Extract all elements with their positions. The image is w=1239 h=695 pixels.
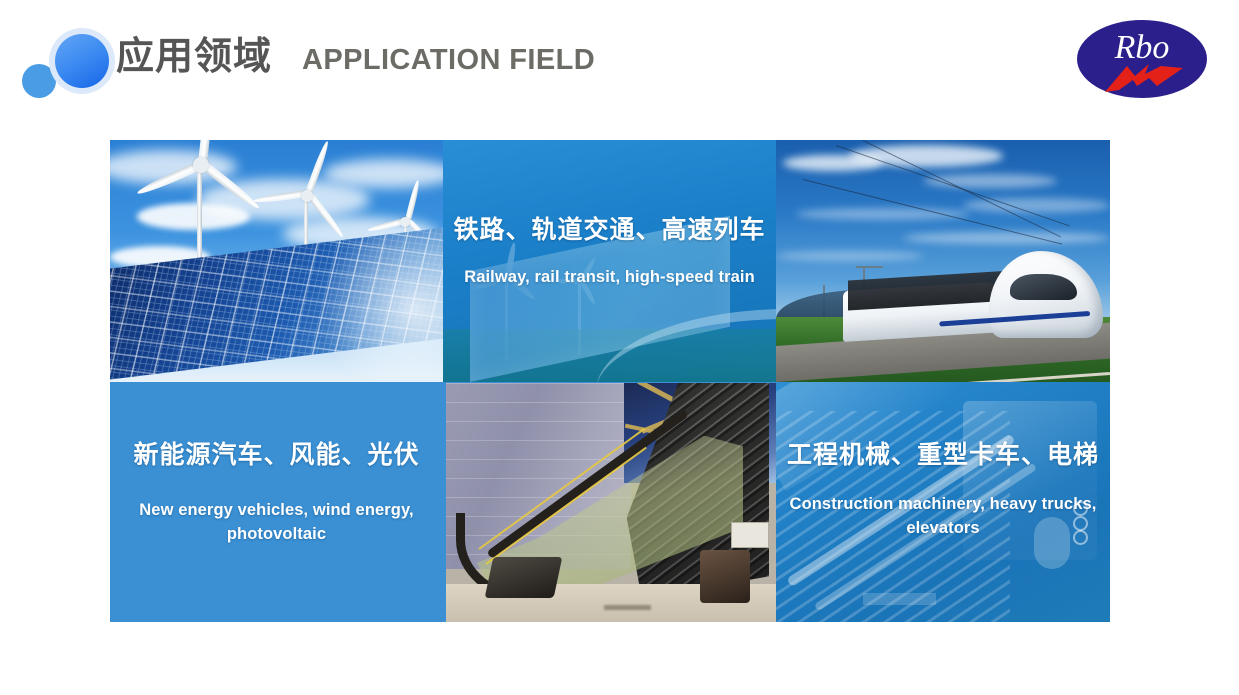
escalator-newel bbox=[700, 550, 750, 603]
page-title-cn: 应用领域 bbox=[116, 33, 272, 79]
escalator-newel bbox=[485, 557, 563, 598]
lightning-bolt-icon bbox=[1105, 64, 1183, 92]
header-decor-dots bbox=[14, 22, 114, 98]
cell-new-energy[interactable]: 新能源汽车、风能、光伏 New energy vehicles, wind en… bbox=[110, 382, 443, 622]
cell-new-energy-title-en: New energy vehicles, wind energy, photov… bbox=[110, 498, 443, 546]
application-field-grid: 铁路、轨道交通、高速列车 Railway, rail transit, high… bbox=[110, 140, 1110, 622]
floor-plate-ghost bbox=[863, 593, 936, 605]
sun-glare bbox=[310, 208, 443, 377]
blue-dot-large-icon bbox=[55, 34, 109, 88]
cell-machinery-title-en: Construction machinery, heavy trucks, el… bbox=[776, 492, 1110, 540]
floor-marking bbox=[604, 605, 650, 610]
cloud-icon bbox=[903, 232, 1110, 244]
wall-sign bbox=[731, 522, 769, 548]
cell-machinery-title-cn: 工程机械、重型卡车、电梯 bbox=[776, 438, 1110, 472]
cell-railway-title-cn: 铁路、轨道交通、高速列车 bbox=[443, 213, 776, 247]
page-title-en: APPLICATION FIELD bbox=[302, 41, 595, 79]
cell-machinery[interactable]: 工程机械、重型卡车、电梯 Construction machinery, hea… bbox=[776, 382, 1110, 622]
page-header: 应用领域 APPLICATION FIELD Rbo bbox=[0, 0, 1239, 120]
cell-new-energy-title-cn: 新能源汽车、风能、光伏 bbox=[110, 438, 443, 472]
cell-railway[interactable]: 铁路、轨道交通、高速列车 Railway, rail transit, high… bbox=[443, 140, 776, 382]
brand-logo: Rbo bbox=[1077, 20, 1207, 98]
cell-railway-title-en: Railway, rail transit, high-speed train bbox=[443, 265, 776, 289]
cloud-icon bbox=[849, 145, 1003, 167]
cell-escalator[interactable] bbox=[443, 382, 776, 622]
high-speed-train bbox=[843, 251, 1104, 338]
cell-train[interactable] bbox=[776, 140, 1110, 382]
brand-name: Rbo bbox=[1077, 29, 1207, 67]
escalator-photo bbox=[446, 383, 776, 622]
cell-wind-solar[interactable] bbox=[110, 140, 443, 382]
